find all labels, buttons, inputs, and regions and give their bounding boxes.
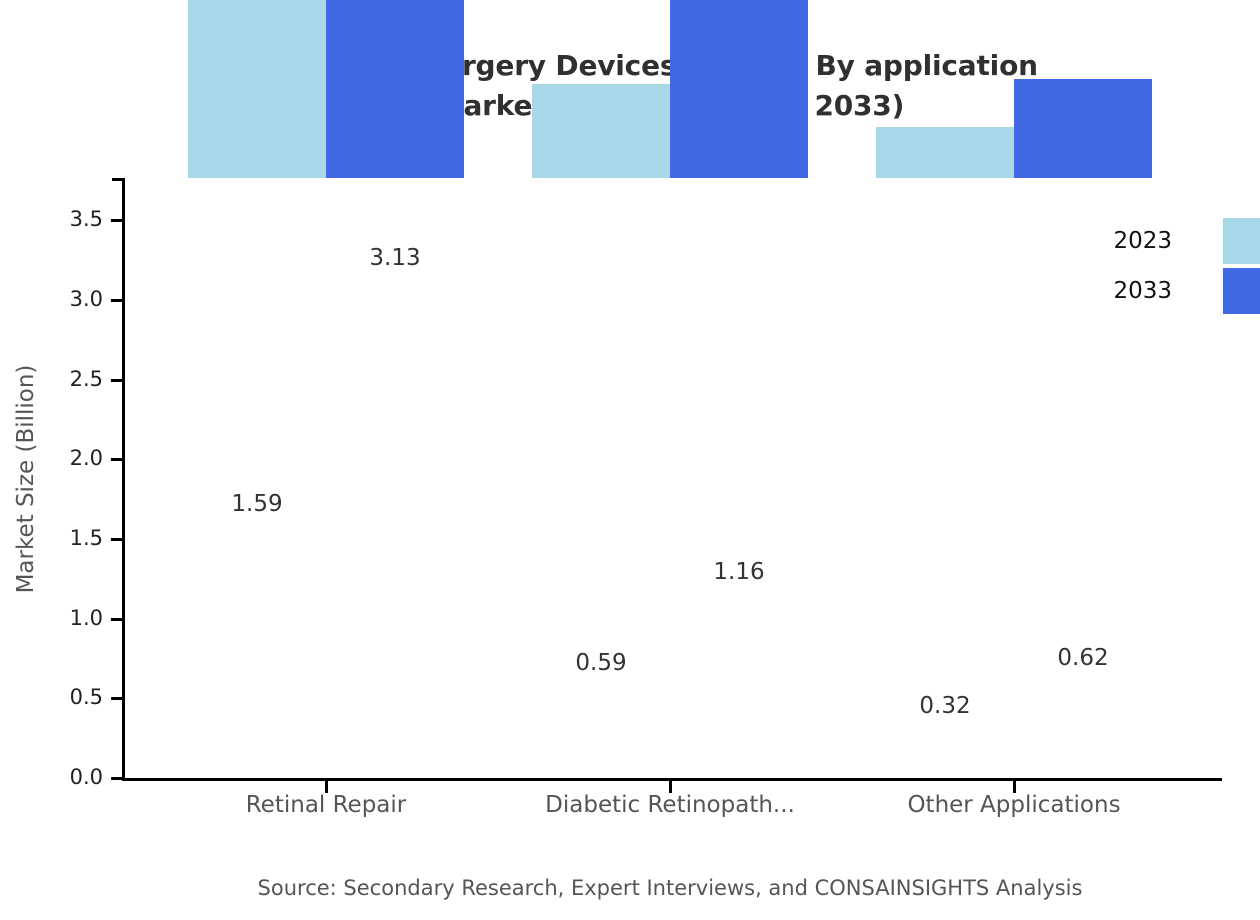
y-tick: 3.0 <box>111 299 123 302</box>
bar-2033-1[interactable] <box>326 0 464 178</box>
legend-swatch <box>1223 268 1260 314</box>
legend-label: 2033 <box>1052 278 1172 304</box>
bar-2023-2[interactable] <box>532 84 670 178</box>
source-note: Source: Secondary Research, Expert Inter… <box>0 876 1260 900</box>
y-axis-title: Market Size (Billion) <box>13 365 39 594</box>
y-tick-label: 0.0 <box>70 765 103 789</box>
bar-value-label: 3.13 <box>369 245 420 271</box>
x-tick-label: Diabetic Retinopath... <box>545 792 795 818</box>
y-tick-label: 2.5 <box>70 367 103 391</box>
y-tick: 0.0 <box>111 777 123 780</box>
chart-figure: Retinal Surgery Devices Market, By appli… <box>0 0 1260 920</box>
x-axis-spine <box>122 778 1222 781</box>
bar-value-label: 0.59 <box>575 650 626 676</box>
x-tick-label: Other Applications <box>907 792 1120 818</box>
bar-value-label: 1.59 <box>231 491 282 517</box>
legend: 20232033 <box>1136 218 1260 318</box>
legend-swatch <box>1223 218 1260 264</box>
y-axis-spine <box>122 178 125 781</box>
y-tick-label: 3.5 <box>70 207 103 231</box>
y-tick-label: 3.0 <box>70 287 103 311</box>
plot-area: Market Size (Billion) 0.00.51.01.52.02.5… <box>122 178 1222 781</box>
x-tick-label: Retinal Repair <box>246 792 407 818</box>
y-tick: 0.5 <box>111 697 123 700</box>
bar-2033-3[interactable] <box>1014 79 1152 178</box>
bar-2023-1[interactable] <box>188 0 326 178</box>
y-tick-label: 0.5 <box>70 685 103 709</box>
legend-item-2033[interactable]: 2033 <box>1136 268 1260 318</box>
y-tick: 1.5 <box>111 538 123 541</box>
bar-2033-2[interactable] <box>670 0 808 178</box>
bar-value-label: 0.62 <box>1057 645 1108 671</box>
y-tick-label: 2.0 <box>70 446 103 470</box>
y-tick: 2.0 <box>111 458 123 461</box>
bar-value-label: 1.16 <box>713 559 764 585</box>
y-tick-label: 1.5 <box>70 526 103 550</box>
y-tick: 3.5 <box>111 219 123 222</box>
legend-item-2023[interactable]: 2023 <box>1136 218 1260 268</box>
y-axis-top-cap <box>112 178 125 181</box>
bar-2023-3[interactable] <box>876 127 1014 178</box>
y-tick-label: 1.0 <box>70 606 103 630</box>
y-tick: 1.0 <box>111 618 123 621</box>
bar-value-label: 0.32 <box>919 693 970 719</box>
legend-label: 2023 <box>1052 228 1172 254</box>
y-tick: 2.5 <box>111 379 123 382</box>
